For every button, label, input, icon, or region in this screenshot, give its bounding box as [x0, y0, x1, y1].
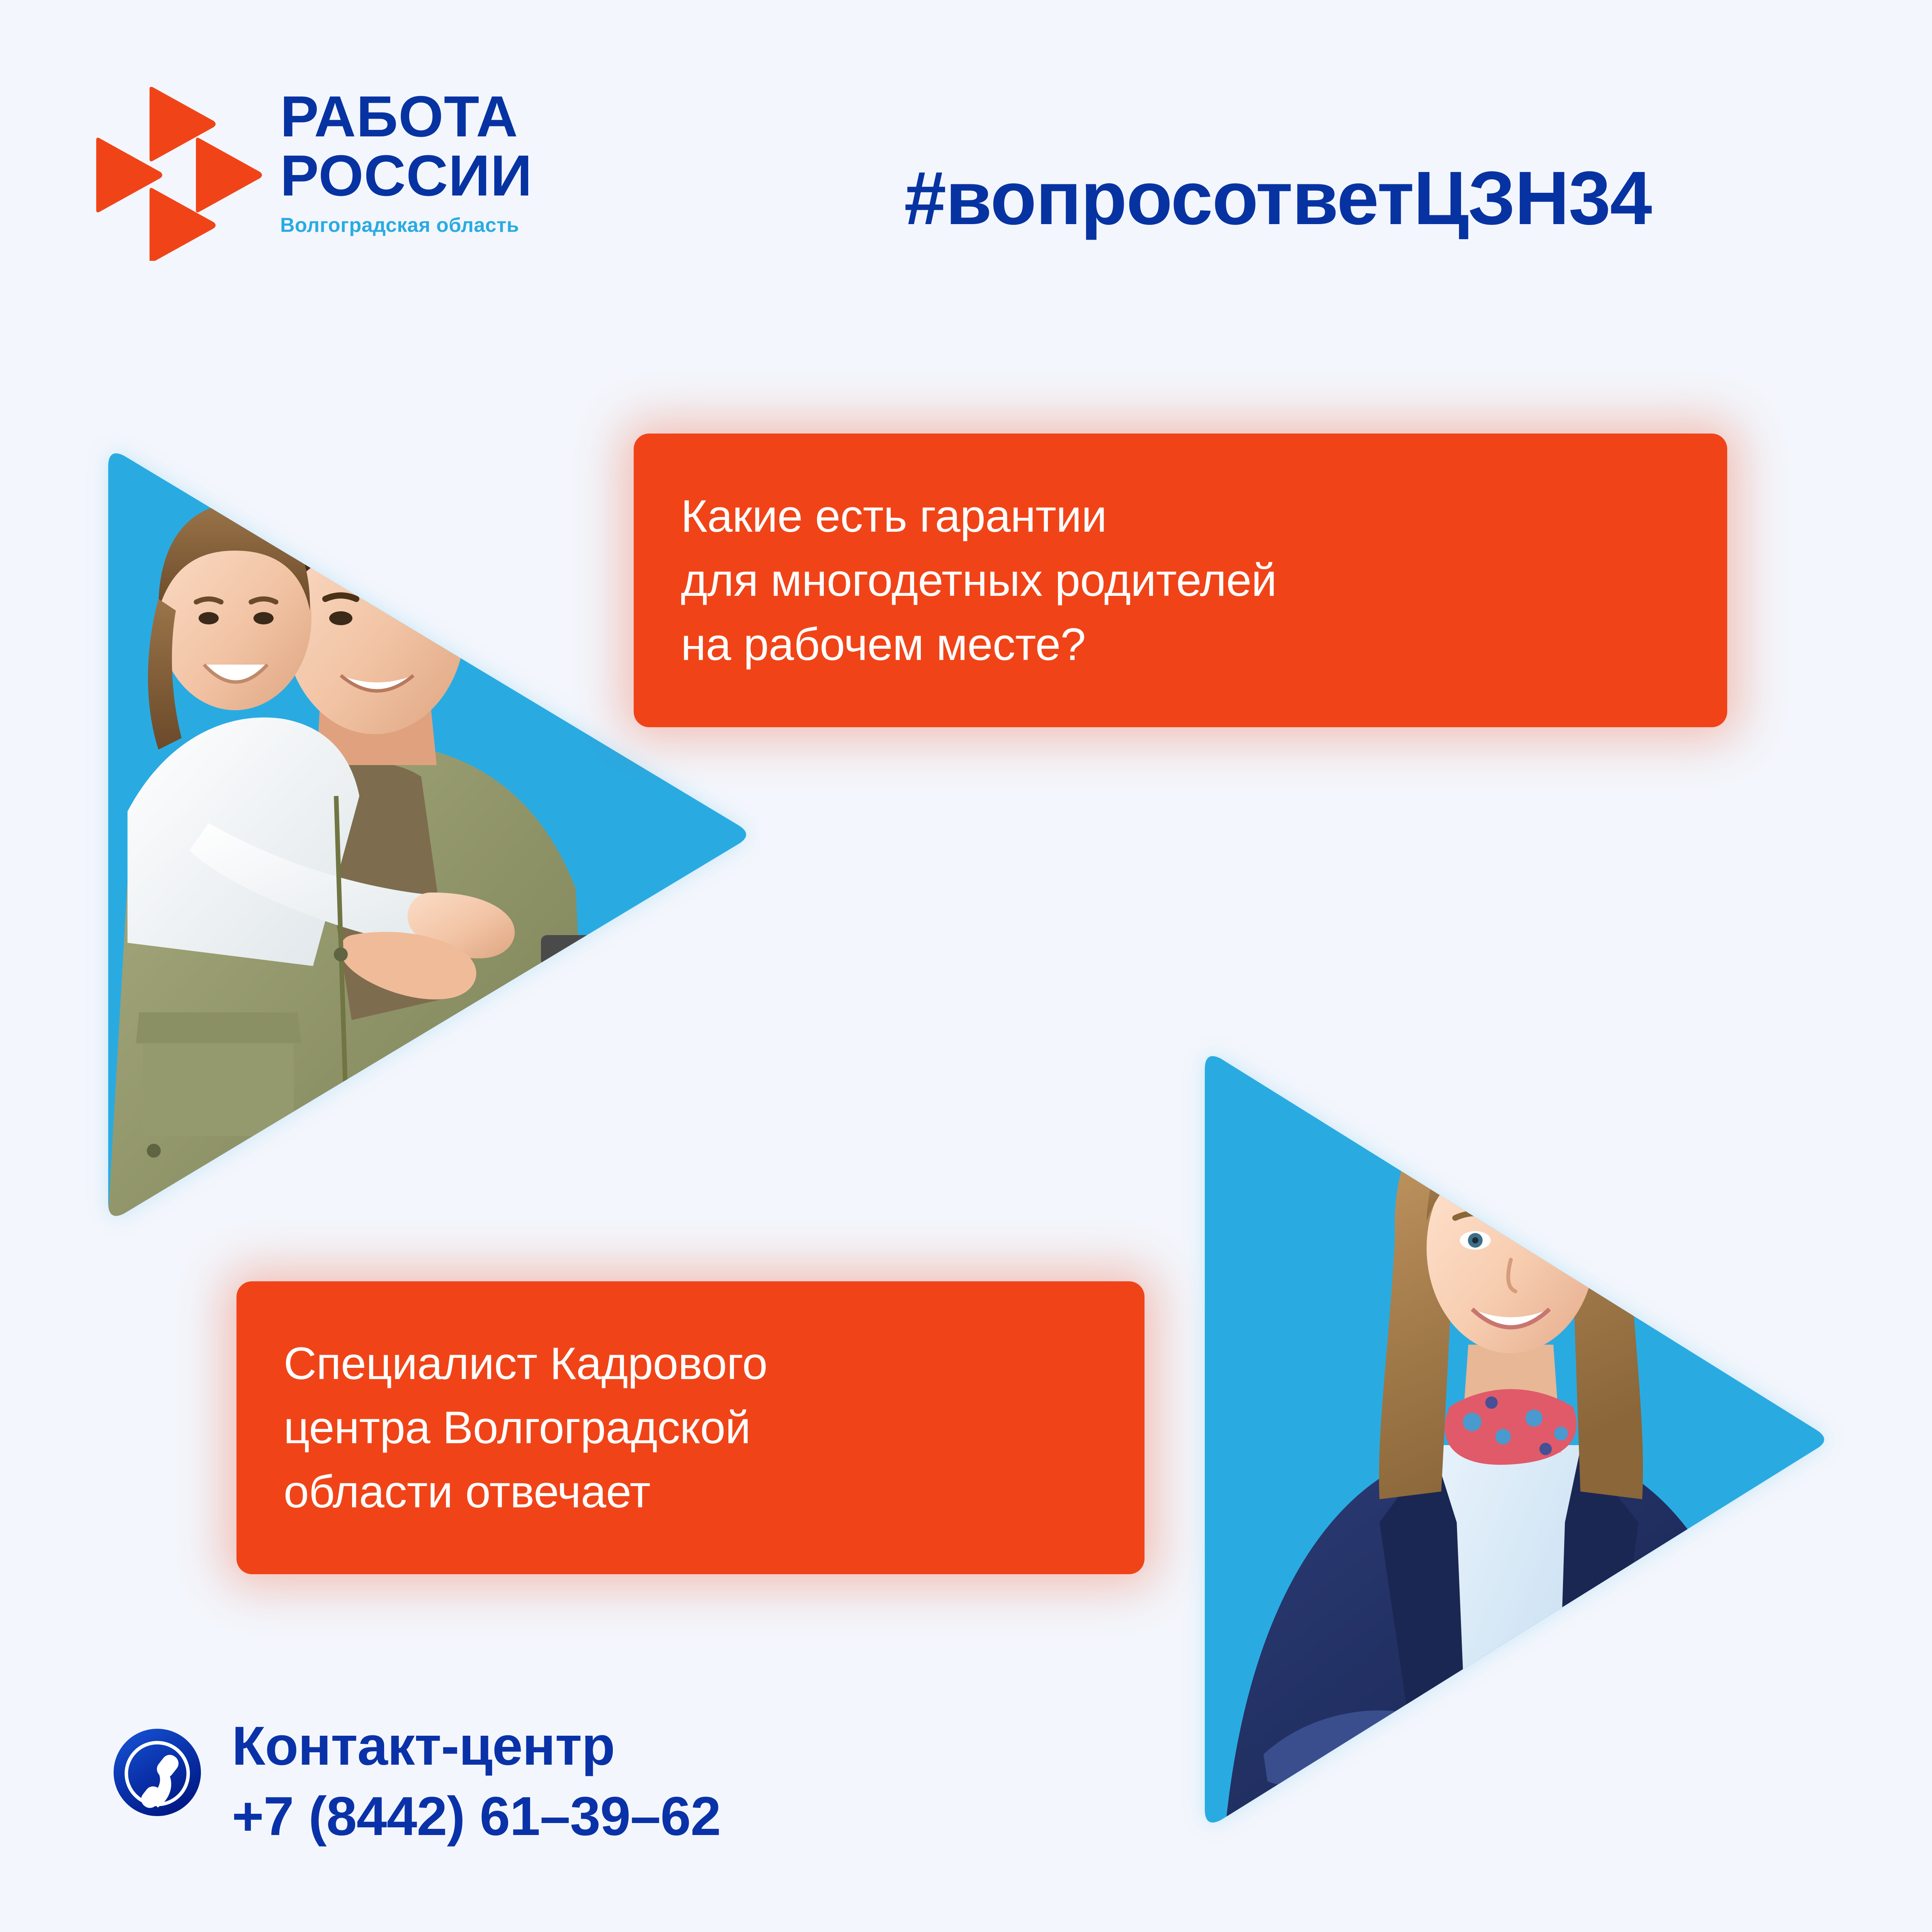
logo-line-rabota: РАБОТА [280, 87, 609, 146]
logo-wordmark: РАБОТА РОССИИ Волгоградская область [280, 87, 609, 298]
rabota-rossii-logo-mark [95, 87, 265, 261]
answer-line-2: центра Волгоградской [284, 1396, 1145, 1460]
question-line-2: для многодетных родителей [681, 548, 1727, 612]
brand-logo[interactable]: РАБОТА РОССИИ Волгоградская область [95, 87, 609, 298]
phone-handset-icon [113, 1728, 202, 1817]
contact-phone-number[interactable]: +7 (8442) 61–39–62 [232, 1781, 721, 1852]
answer-line-1: Специалист Кадрового [284, 1332, 1145, 1396]
contact-center-block[interactable]: Контакт-центр +7 (8442) 61–39–62 [113, 1712, 886, 1874]
logo-region-label: Волгоградская область [280, 214, 609, 237]
career-center-specialist-photo [1163, 1020, 1843, 1889]
question-line-1: Какие есть гарантии [681, 484, 1727, 548]
contact-text: Контакт-центр +7 (8442) 61–39–62 [232, 1712, 721, 1852]
question-callout: Какие есть гарантии для многодетных роди… [634, 434, 1727, 727]
answer-callout: Специалист Кадрового центра Волгоградско… [236, 1281, 1145, 1574]
answer-line-3: области отвечает [284, 1460, 1145, 1524]
logo-line-rossii: РОССИИ [280, 146, 609, 205]
contact-center-label: Контакт-центр [232, 1712, 721, 1781]
question-line-3: на рабочем месте? [681, 612, 1727, 677]
poster-canvas: РАБОТА РОССИИ Волгоградская область #воп… [0, 0, 1932, 1932]
campaign-hashtag: #вопросответЦЗН34 [904, 160, 1651, 236]
